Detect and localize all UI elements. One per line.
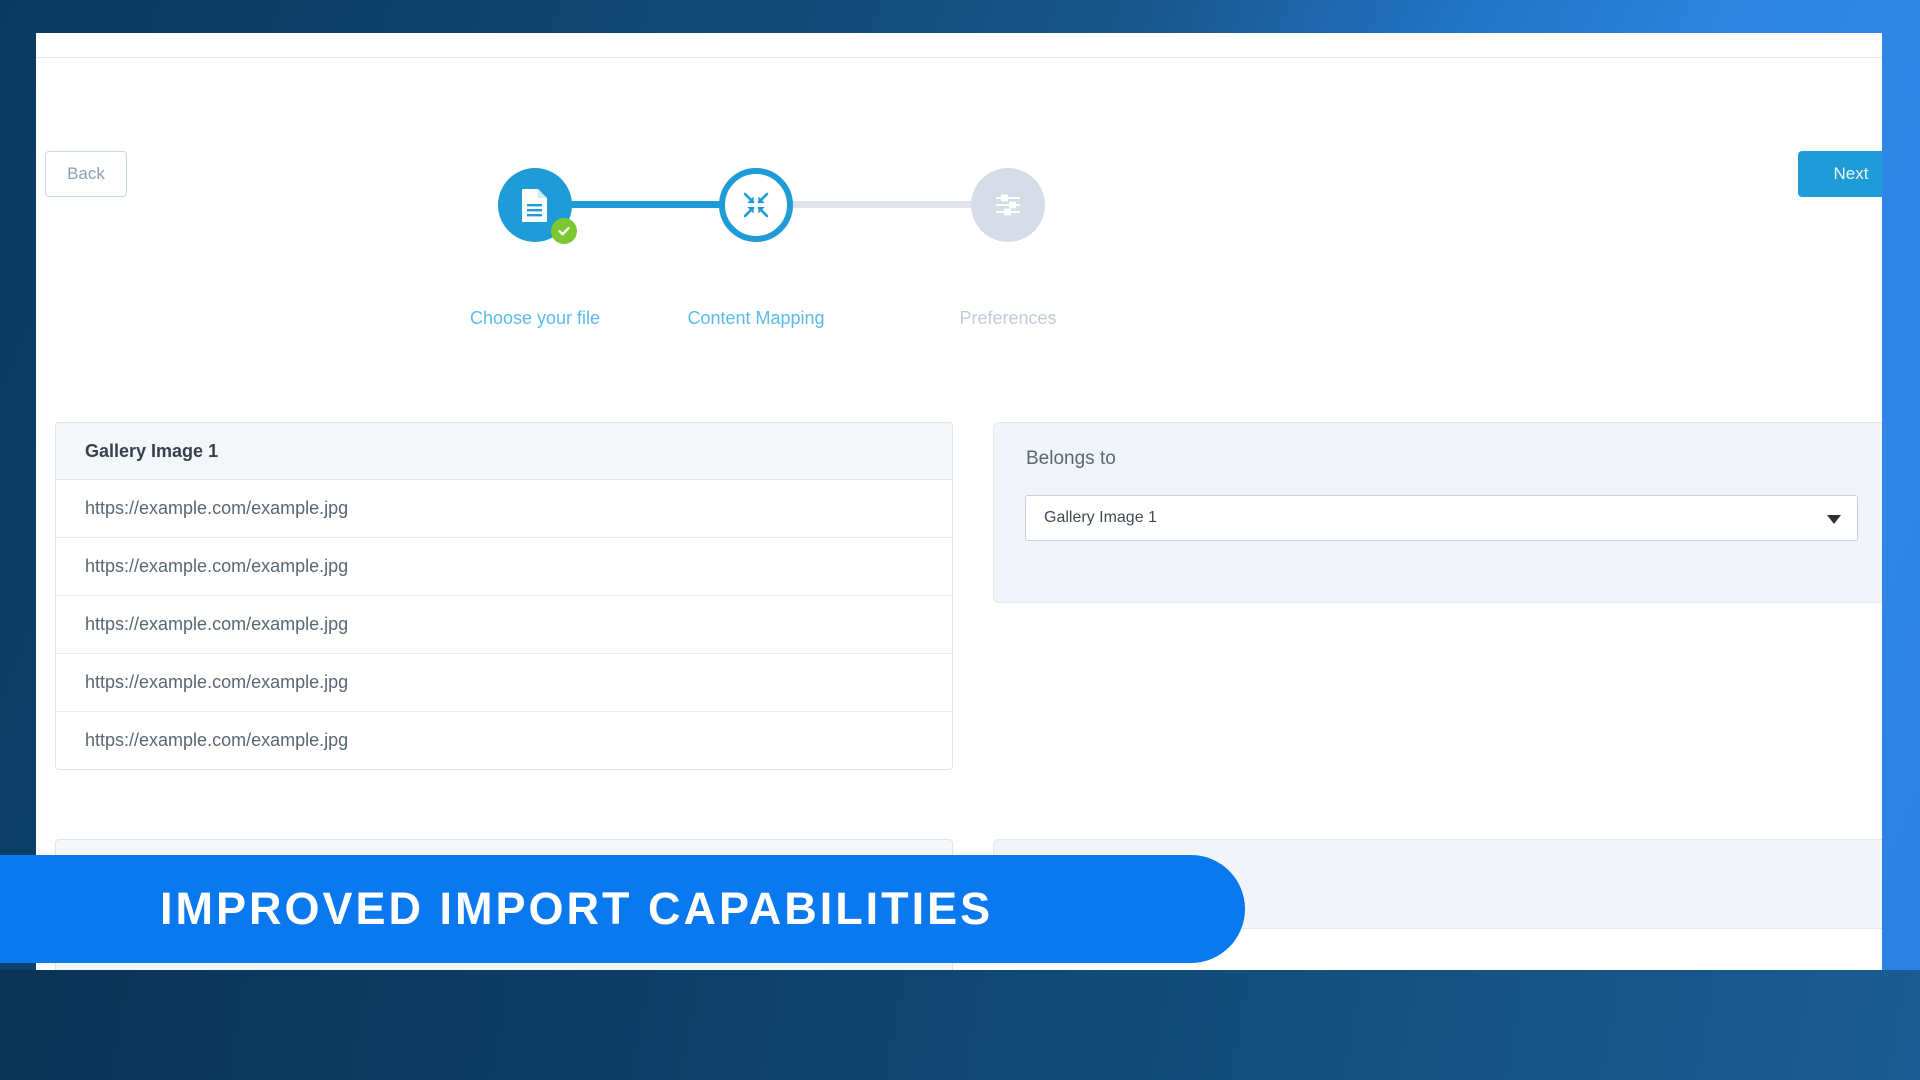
step-1-label: Choose your file [415, 308, 655, 329]
step-2-circle [719, 168, 793, 242]
wizard-stepper: Choose your file [466, 113, 1086, 283]
list-item: https://example.com/example.jpg [56, 596, 952, 654]
source-column-header: Gallery Image 1 [56, 423, 952, 480]
stepper-step-preferences[interactable]: Preferences [971, 168, 1045, 242]
document-icon [520, 188, 550, 222]
step-2-label: Content Mapping [636, 308, 876, 329]
header-divider [36, 57, 1882, 58]
source-column-panel: Gallery Image 1 https://example.com/exam… [55, 422, 953, 770]
step-1-completed-badge [551, 218, 577, 244]
belongs-to-select[interactable]: Gallery Image 1 [1025, 495, 1858, 541]
list-item: https://example.com/example.jpg [56, 712, 952, 769]
stepper-connector-upcoming [786, 201, 998, 208]
content-mapping-icon [742, 191, 770, 219]
next-button[interactable]: Next [1798, 151, 1882, 197]
step-3-circle [971, 168, 1045, 242]
list-item: https://example.com/example.jpg [56, 480, 952, 538]
stepper-step-choose-file[interactable]: Choose your file [498, 168, 572, 242]
mapping-panel: Belongs to Gallery Image 1 [993, 422, 1882, 603]
next-button-label: Next [1834, 164, 1869, 183]
promo-banner: IMPROVED IMPORT CAPABILITIES [0, 855, 1245, 963]
belongs-to-selected-value: Gallery Image 1 [1044, 496, 1157, 540]
check-icon [557, 224, 571, 238]
step-3-label: Preferences [888, 308, 1128, 329]
slide-background: Back Next [0, 0, 1920, 1080]
step-1-circle [498, 168, 572, 242]
sliders-icon [993, 191, 1023, 219]
promo-banner-text: IMPROVED IMPORT CAPABILITIES [160, 883, 993, 935]
list-item: https://example.com/example.jpg [56, 538, 952, 596]
back-button[interactable]: Back [45, 151, 127, 197]
stepper-step-content-mapping[interactable]: Content Mapping [719, 168, 793, 242]
belongs-to-label: Belongs to [1026, 448, 1116, 470]
chevron-down-icon [1827, 515, 1841, 524]
back-button-label: Back [67, 164, 105, 183]
list-item: https://example.com/example.jpg [56, 654, 952, 712]
